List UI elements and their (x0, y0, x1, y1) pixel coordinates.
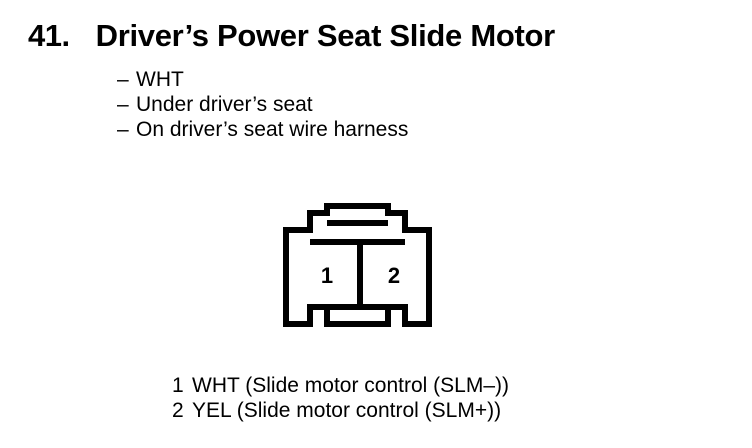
spec-item-label: Under driver’s seat (136, 92, 313, 117)
spec-item: – Under driver’s seat (117, 92, 637, 117)
spec-item-label: On driver’s seat wire harness (136, 117, 408, 142)
spec-list: – WHT – Under driver’s seat – On driver’… (117, 67, 637, 142)
page-title: Driver’s Power Seat Slide Motor (96, 18, 555, 54)
pin-cavity-number-1: 1 (321, 263, 333, 288)
pin-cavity-number-2: 2 (388, 263, 400, 288)
pin-legend-row: 2 YEL (Slide motor control (SLM+)) (172, 398, 592, 423)
pin-legend: 1 WHT (Slide motor control (SLM–)) 2 YEL… (172, 373, 592, 423)
dash-bullet-icon: – (117, 67, 136, 92)
spec-item: – WHT (117, 67, 637, 92)
spec-item: – On driver’s seat wire harness (117, 117, 637, 142)
dash-bullet-icon: – (117, 92, 136, 117)
spec-item-label: WHT (136, 67, 184, 92)
pin-legend-description: YEL (Slide motor control (SLM+)) (192, 398, 501, 423)
pin-legend-number: 2 (172, 398, 192, 423)
pin-legend-row: 1 WHT (Slide motor control (SLM–)) (172, 373, 592, 398)
page-heading: 41. Driver’s Power Seat Slide Motor (28, 18, 555, 54)
connector-diagram: 1 2 (283, 203, 443, 333)
dash-bullet-icon: – (117, 117, 136, 142)
pin-legend-description: WHT (Slide motor control (SLM–)) (192, 373, 509, 398)
item-number: 41. (28, 18, 70, 54)
pin-legend-number: 1 (172, 373, 192, 398)
